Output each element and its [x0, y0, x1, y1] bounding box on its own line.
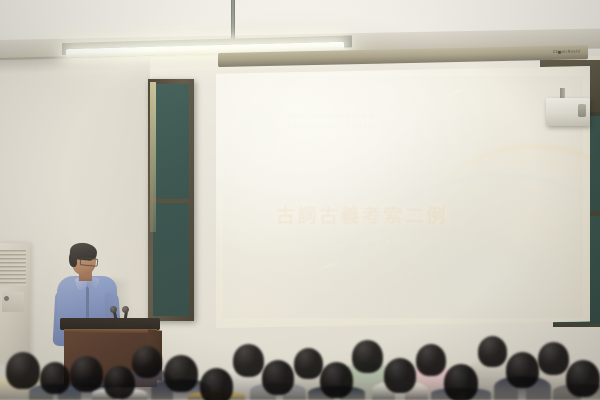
audience-member-head: [320, 362, 353, 398]
slide-sparkle: [433, 166, 435, 168]
audience-member-head: [538, 342, 569, 375]
slide-logo-circle: [240, 105, 281, 144]
lecture-hall-photo: ClassicBoard 国家语言资源与文化传承研究基地 北京师范大学汉语言文字…: [0, 0, 600, 400]
podium-edge: [64, 329, 157, 333]
audience-member-head: [262, 360, 294, 395]
audience-member-head: [164, 355, 198, 392]
slide-organization-text: 国家语言资源与文化传承研究基地 北京师范大学汉语言文字学研究所: [287, 113, 374, 133]
slide-org-line-2: 北京师范大学汉语言文字学研究所: [287, 123, 374, 133]
audience-member-head: [40, 362, 70, 394]
eyeglasses-bridge: [88, 260, 92, 261]
audience-member-head: [132, 346, 162, 378]
audience-member-head: [384, 358, 416, 393]
projection-screen: 国家语言资源与文化传承研究基地 北京师范大学汉语言文字学研究所 古詞古義考索二例…: [216, 66, 590, 328]
slide-title: 古詞古義考索二例: [276, 201, 448, 228]
audience-member-head: [352, 340, 383, 373]
speaker-hair-side: [69, 252, 77, 267]
slide-org-line-1: 国家语言资源与文化传承研究基地: [287, 113, 374, 123]
audience-member-head: [200, 368, 233, 400]
slide-subtitle: ——談談語言與治學: [336, 235, 430, 248]
eyeglasses-icon: [80, 257, 99, 267]
air-conditioner-vent-icon: [0, 250, 26, 286]
blackboard-left-divider: [153, 199, 189, 203]
audience-member-head: [294, 348, 323, 379]
audience-member-head: [70, 356, 103, 392]
microphone-icon: [110, 306, 117, 313]
microphone-icon: [122, 306, 129, 313]
audience-member-head: [478, 336, 507, 367]
slide-content: 国家语言资源与文化传承研究基地 北京师范大学汉语言文字学研究所 古詞古義考索二例…: [216, 66, 590, 328]
projector-lens-icon: [578, 104, 586, 117]
roller-brand-label: ClassicBoard: [553, 48, 580, 54]
audience-member-head: [6, 352, 40, 389]
blackboard-edge-highlight: [150, 82, 156, 232]
audience-member-head: [444, 364, 478, 400]
audience-member-head: [416, 344, 446, 376]
slide-sparkle: [280, 95, 282, 97]
audience-member-head: [506, 352, 539, 388]
audience-member-head: [233, 344, 264, 377]
air-conditioner-control-panel: [2, 292, 24, 312]
air-conditioner-knob: [4, 296, 9, 301]
audience-member-head: [566, 360, 600, 397]
audience-member-head: [104, 366, 135, 399]
